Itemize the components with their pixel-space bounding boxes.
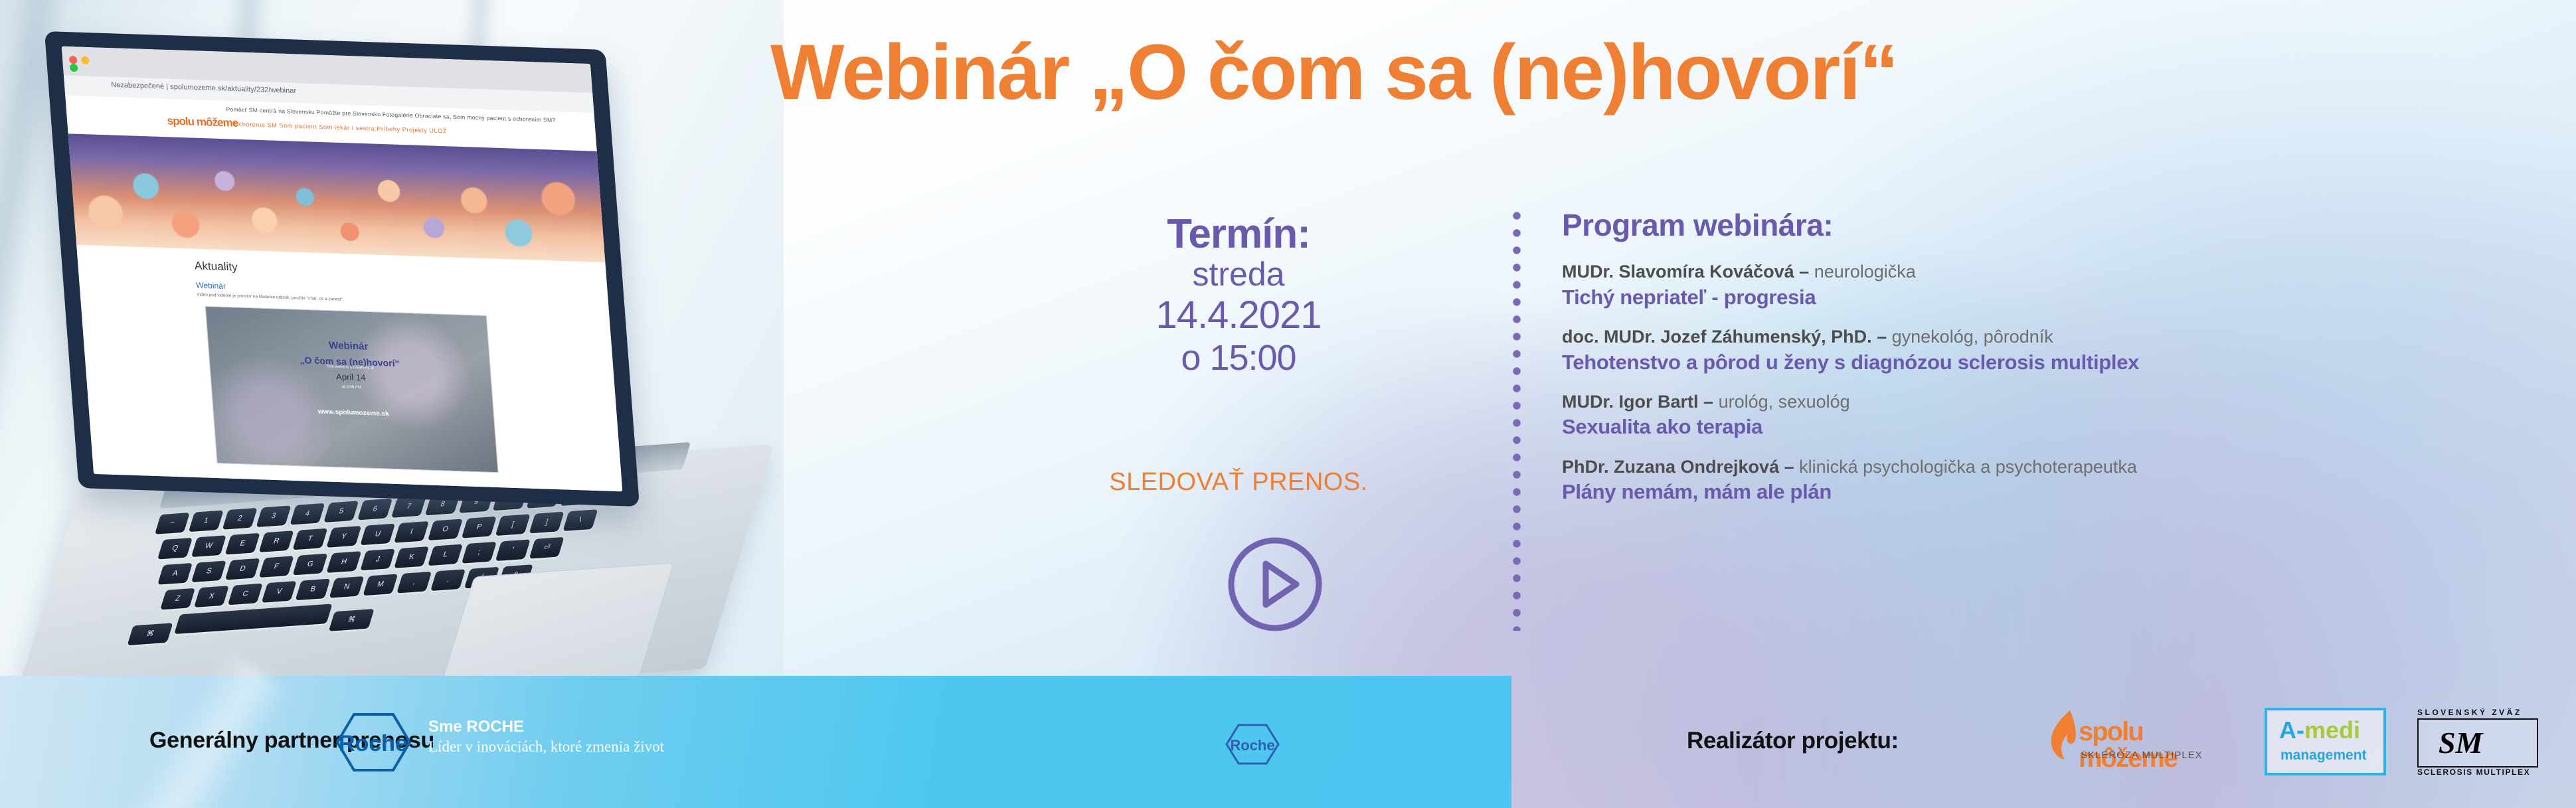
key: J xyxy=(360,549,395,571)
szsm-top-text: SLOVENSKÝ ZVÄZ xyxy=(2417,708,2522,717)
key-space xyxy=(174,604,333,634)
laptop-screen: Nezabezpečené | spolumozeme.sk/aktuality… xyxy=(62,46,623,492)
site-logo: spolu môžeme xyxy=(167,114,238,129)
key: ~ xyxy=(155,513,190,534)
szsm-mark-box: SM xyxy=(2417,718,2538,768)
key: P xyxy=(462,517,497,538)
key: 4 xyxy=(290,503,325,525)
roche-wordmark-text: Roche xyxy=(339,731,408,756)
key: C xyxy=(228,584,263,606)
laptop-device: ~1234567890-=⌫ QWERTYUIOP[]\ ASDFGHJKL;'… xyxy=(56,40,760,677)
laptop-photo: ~1234567890-=⌫ QWERTYUIOP[]\ ASDFGHJKL;'… xyxy=(0,0,784,684)
speaker-dash: – xyxy=(1699,392,1719,412)
speaker-name: PhDr. Zuzana Ondrejková xyxy=(1562,457,1779,477)
key: 5 xyxy=(323,501,359,523)
program-item: doc. MUDr. Jozef Záhumenský, PhD. – gyne… xyxy=(1562,325,2558,376)
webinar-banner: ~1234567890-=⌫ QWERTYUIOP[]\ ASDFGHJKL;'… xyxy=(0,0,2576,808)
minimize-dot-icon[interactable] xyxy=(81,56,90,64)
speaker-role: gynekológ, pôrodník xyxy=(1892,327,2053,347)
key: L xyxy=(428,544,463,566)
a-medi-medi: medi xyxy=(2304,716,2360,744)
key: \ xyxy=(562,509,598,531)
key: E xyxy=(225,533,260,555)
key: G xyxy=(293,554,328,576)
program-speaker-line: doc. MUDr. Jozef Záhumenský, PhD. – gyne… xyxy=(1562,325,2558,349)
program-speaker-line: PhDr. Zuzana Ondrejková – klinická psych… xyxy=(1562,455,2558,479)
site-page-body: Aktuality Webinár Video pod videom je pr… xyxy=(76,245,622,491)
window-control-dots xyxy=(69,56,104,65)
roche-claim-title: Sme ROCHE xyxy=(428,717,664,737)
vertical-dotted-divider xyxy=(1513,207,1521,631)
speaker-dash: – xyxy=(1872,327,1892,347)
key: I xyxy=(394,521,429,543)
event-time: o 15:00 xyxy=(1026,337,1451,378)
key: Z xyxy=(160,588,195,610)
speaker-name: MUDr. Igor Bartl xyxy=(1562,392,1699,412)
page-title: Webinár „O čom sa (ne)hovorí“ xyxy=(770,30,2563,116)
article-description: Video pod videom je priestor na kladenie… xyxy=(197,293,344,302)
program-item: PhDr. Zuzana Ondrejková – klinická psych… xyxy=(1562,455,2558,506)
key: B xyxy=(296,579,331,601)
key: N xyxy=(329,576,364,598)
key: [ xyxy=(495,514,531,536)
szsm-mark-text: SM xyxy=(2439,728,2482,758)
roche-claim: Sme ROCHE Líder v inováciách, ktoré zmen… xyxy=(428,717,664,757)
talk-title: Tehotenstvo a pôrod u ženy s diagnózou s… xyxy=(1562,349,2558,376)
site-nav-main[interactable]: Ochorenie SM Som pacient Som lekár / ses… xyxy=(234,121,448,135)
key: ⌘ xyxy=(128,623,173,645)
play-icon xyxy=(1225,534,1325,634)
key: 6 xyxy=(357,499,392,521)
key: W xyxy=(191,535,226,557)
key: U xyxy=(360,523,395,545)
program-item: MUDr. Igor Bartl – urológ, sexuológ Sexu… xyxy=(1562,390,2558,441)
footer-bar: Generálny partner prenosu Roche Sme ROCH… xyxy=(0,676,2576,808)
key: O xyxy=(428,519,463,540)
program-section: Program webinára: MUDr. Slavomíra Kováčo… xyxy=(1562,207,2558,521)
roche-claim-subtitle: Líder v inováciách, ktoré zmenia život xyxy=(428,737,664,757)
key: X xyxy=(194,586,229,607)
key: ⌘ xyxy=(329,609,375,631)
event-date-label: Termín: xyxy=(1026,212,1451,256)
spolu-mozeme-logo: spolu môžeme SKLERÓZA MULTIPLEX xyxy=(2042,708,2241,781)
key: Q xyxy=(157,538,193,560)
key: F xyxy=(259,556,294,578)
speaker-name: MUDr. Slavomíra Kováčová xyxy=(1562,262,1794,282)
partner-logos: spolu môžeme SKLERÓZA MULTIPLEX A-medi m… xyxy=(2042,708,2547,781)
talk-title: Sexualita ako terapia xyxy=(1562,414,2558,440)
key: Y xyxy=(326,526,361,548)
flame-icon xyxy=(2043,709,2082,761)
a-medi-management-logo: A-medi management xyxy=(2265,708,2386,775)
talk-title: Plány nemám, mám ale plán xyxy=(1562,479,2558,505)
key: ⏎ xyxy=(529,537,564,559)
a-medi-subtitle: management xyxy=(2280,748,2367,764)
watch-stream-cta[interactable]: SLEDOVAŤ PRENOS. xyxy=(1026,468,1451,497)
key: D xyxy=(225,558,260,580)
event-date-block: Termín: streda 14.4.2021 o 15:00 xyxy=(1026,212,1451,378)
program-speaker-line: MUDr. Igor Bartl – urológ, sexuológ xyxy=(1562,390,2558,414)
key: S xyxy=(191,560,226,582)
close-dot-icon[interactable] xyxy=(69,56,78,64)
key: T xyxy=(292,528,327,550)
spolu-mozeme-subtitle: SKLERÓZA MULTIPLEX xyxy=(2081,750,2203,761)
speaker-role: neurologička xyxy=(1814,262,1916,282)
key: . xyxy=(430,569,466,591)
speaker-name: doc. MUDr. Jozef Záhumenský, PhD. xyxy=(1562,327,1872,347)
key: ; xyxy=(462,542,497,564)
a-medi-a: A- xyxy=(2279,716,2304,744)
key: M xyxy=(363,574,398,596)
video-thumbnail[interactable]: Webinár „O čom sa (ne)hovorí“ This event… xyxy=(205,306,499,473)
laptop-lid: Nezabezpečené | spolumozeme.sk/aktuality… xyxy=(44,31,640,507)
key: 1 xyxy=(189,510,224,532)
key: R xyxy=(259,530,294,552)
szsm-logo: SLOVENSKÝ ZVÄZ SM SCLEROSIS MULTIPLEX xyxy=(2414,708,2547,781)
key: 2 xyxy=(222,508,258,530)
site-hero-flowers-image xyxy=(68,133,606,262)
event-weekday: streda xyxy=(1026,256,1451,294)
program-speaker-line: MUDr. Slavomíra Kováčová – neurologička xyxy=(1562,260,2558,284)
speaker-role: urológ, sexuológ xyxy=(1719,392,1850,412)
talk-title: Tichý nepriateľ - progresia xyxy=(1562,284,2558,311)
project-realizer-label: Realizátor projektu: xyxy=(1687,728,1899,754)
program-item: MUDr. Slavomíra Kováčová – neurologička … xyxy=(1562,260,2558,311)
key: ] xyxy=(529,512,564,534)
maximize-dot-icon[interactable] xyxy=(70,64,78,72)
page-heading: Aktuality xyxy=(194,260,238,274)
spolu-mozeme-wordmark: spolu môžeme xyxy=(2079,718,2241,771)
speaker-dash: – xyxy=(1779,457,1799,477)
event-date: 14.4.2021 xyxy=(1026,294,1451,337)
program-title: Program webinára: xyxy=(1562,207,2558,243)
play-button[interactable] xyxy=(1225,534,1325,634)
speaker-role: klinická psychologička a psychoterapeutk… xyxy=(1799,457,2137,477)
key: A xyxy=(157,563,193,585)
speaker-dash: – xyxy=(1794,262,1814,282)
roche-logo: Roche xyxy=(335,712,412,772)
key: K xyxy=(394,546,429,568)
a-medi-wordmark: A-medi xyxy=(2279,718,2360,742)
key: , xyxy=(396,572,432,594)
video-site-url: www.spolumozeme.sk xyxy=(213,404,494,421)
key: ' xyxy=(495,539,531,561)
szsm-bottom-text: SCLEROSIS MULTIPLEX xyxy=(2417,768,2530,777)
key: 3 xyxy=(256,505,292,527)
roche-logo-small: Roche xyxy=(1225,724,1280,765)
roche-small-wordmark-text: Roche xyxy=(1230,737,1274,754)
key: V xyxy=(262,581,297,603)
article-link[interactable]: Webinár xyxy=(196,281,226,291)
key: H xyxy=(326,551,361,573)
